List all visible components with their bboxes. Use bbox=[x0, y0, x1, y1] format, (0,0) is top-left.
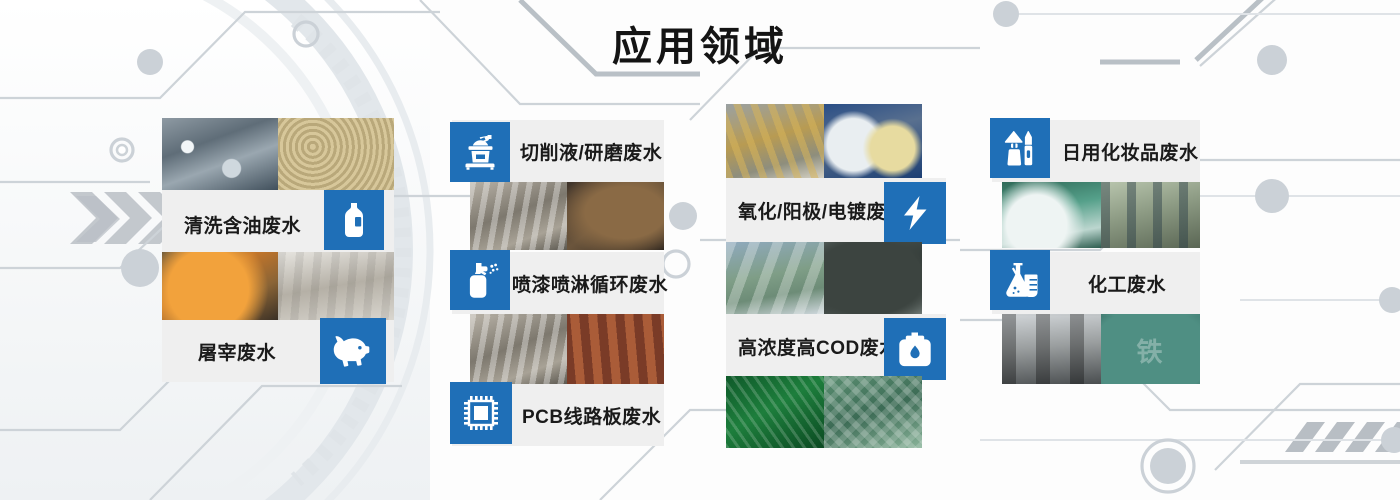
chemical-plant-photo bbox=[1002, 316, 1101, 384]
dark-storage-tank-photo bbox=[824, 242, 922, 314]
aeration-tank-photo bbox=[1002, 182, 1101, 248]
card-label: 切削液/研磨废水 bbox=[520, 138, 662, 165]
pig-icon-tile[interactable] bbox=[320, 318, 386, 384]
jerrycan-drop-icon-tile[interactable] bbox=[884, 318, 946, 380]
cosmetics-icon-tile[interactable] bbox=[990, 118, 1050, 178]
photo-strip-pcb-upper bbox=[470, 316, 664, 384]
settling-basin-photo bbox=[470, 182, 567, 250]
page-title: 应用领域 bbox=[0, 14, 1400, 72]
cosmetics-icon bbox=[1000, 128, 1040, 168]
chip-icon bbox=[461, 393, 501, 433]
biofilm-basin-photo bbox=[470, 316, 567, 384]
filter-vessels-photo bbox=[1101, 182, 1200, 248]
pig-icon bbox=[331, 332, 375, 370]
card-label: PCB线路板废水 bbox=[522, 402, 661, 429]
grinder-icon-tile[interactable] bbox=[450, 122, 510, 182]
green-tank-photo: 铁 bbox=[1101, 316, 1200, 384]
photo-strip-col4-bottom: 铁 bbox=[1002, 316, 1200, 384]
application-areas-banner: 应用领域 清洗含油废水 屠宰废水 bbox=[0, 0, 1400, 500]
photo-strip bbox=[470, 182, 664, 250]
photo-strip bbox=[1002, 182, 1200, 248]
metal-chips-photo bbox=[278, 118, 394, 190]
jug-icon-tile[interactable] bbox=[324, 190, 384, 250]
lightning-icon-tile[interactable] bbox=[884, 182, 946, 244]
lightning-icon bbox=[895, 193, 935, 233]
spray-bottle-icon bbox=[460, 260, 500, 300]
jug-icon bbox=[334, 200, 374, 240]
grinder-icon bbox=[460, 132, 500, 172]
card-label: 高浓度高COD废水 bbox=[738, 333, 899, 360]
oily-wastewater-photo bbox=[162, 252, 278, 320]
photo-strip-col3-bottom bbox=[726, 376, 922, 448]
photo-watermark: 铁 bbox=[1101, 316, 1200, 384]
card-label: 清洗含油废水 bbox=[184, 211, 301, 238]
flask-icon-tile[interactable] bbox=[990, 250, 1050, 310]
photo-strip bbox=[726, 242, 922, 314]
pcb-boards-photo bbox=[726, 376, 824, 448]
photo-strip bbox=[726, 104, 922, 178]
photo-strip bbox=[162, 118, 394, 190]
spray-bottle-icon-tile[interactable] bbox=[450, 250, 510, 310]
beaker-samples-photo bbox=[824, 104, 922, 178]
sludge-discharge-photo bbox=[567, 182, 664, 250]
card-label: 日用化妆品废水 bbox=[1062, 138, 1199, 165]
card-label: 氧化/阳极/电镀废水 bbox=[738, 197, 906, 224]
machining-coolant-photo bbox=[162, 118, 278, 190]
flask-icon bbox=[1000, 260, 1040, 300]
poultry-processing-photo bbox=[567, 316, 664, 384]
jerrycan-drop-icon bbox=[895, 329, 935, 369]
chip-icon-tile[interactable] bbox=[450, 382, 512, 444]
card-label: 化工废水 bbox=[1088, 270, 1166, 297]
plating-line-photo bbox=[726, 104, 824, 178]
photo-strip bbox=[162, 252, 394, 320]
card-label: 屠宰废水 bbox=[198, 338, 276, 365]
slaughterhouse-line-photo bbox=[278, 252, 394, 320]
clarifier-photo bbox=[726, 242, 824, 314]
mbr-membrane-photo bbox=[824, 376, 922, 448]
card-label: 喷漆喷淋循环废水 bbox=[512, 270, 668, 297]
